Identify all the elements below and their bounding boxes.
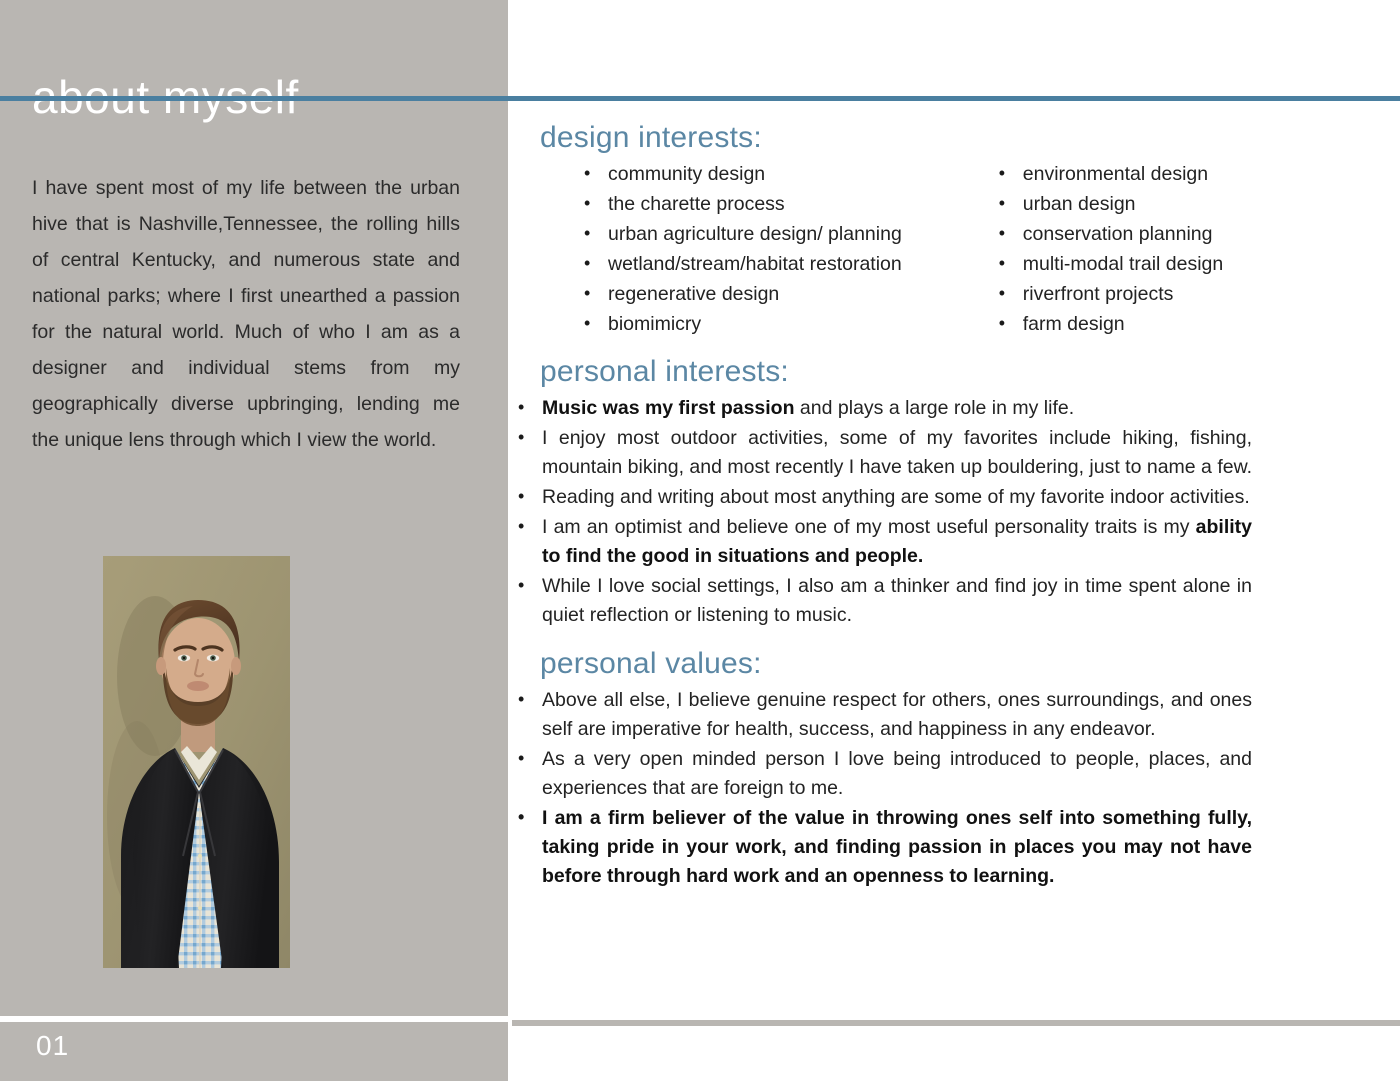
list-item: I am a firm believer of the value in thr… (512, 804, 1252, 891)
list-item: conservation planning (993, 220, 1368, 249)
list-item: While I love social settings, I also am … (512, 572, 1252, 630)
list-item: Reading and writing about most anything … (512, 483, 1252, 512)
list-item: urban agriculture design/ planning (578, 220, 993, 249)
list-item: environmental design (993, 160, 1368, 189)
design-interests-list-left: community designthe charette processurba… (578, 160, 993, 339)
list-item: regenerative design (578, 280, 993, 309)
list-item: urban design (993, 190, 1368, 219)
list-item: the charette process (578, 190, 993, 219)
design-interests-column-left: community designthe charette processurba… (578, 160, 993, 340)
design-interests-columns: community designthe charette processurba… (578, 160, 1368, 340)
list-item: wetland/stream/habitat restoration (578, 250, 993, 279)
list-item: farm design (993, 310, 1368, 339)
portrait-illustration (103, 556, 290, 968)
personal-interests-list: Music was my first passion and plays a l… (512, 394, 1252, 630)
list-item: As a very open minded person I love bein… (512, 745, 1252, 803)
list-item: biomimicry (578, 310, 993, 339)
list-item: Above all else, I believe genuine respec… (512, 686, 1252, 744)
footer-horizontal-rule (512, 1020, 1400, 1026)
list-item: riverfront projects (993, 280, 1368, 309)
section-heading-personal-interests: personal interests: (540, 354, 1368, 390)
section-heading-personal-values: personal values: (540, 646, 1368, 682)
section-heading-design-interests: design interests: (540, 120, 1368, 156)
page-number: 01 (36, 1030, 69, 1062)
design-interests-list-right: environmental designurban designconserva… (993, 160, 1368, 339)
title-divider-rule (0, 96, 1400, 101)
emphasis-text: ability to find the good in situations a… (542, 516, 1252, 567)
personal-values-list: Above all else, I believe genuine respec… (512, 686, 1252, 891)
list-item: I am an optimist and believe one of my m… (512, 513, 1252, 571)
portrait-photo (103, 556, 290, 968)
design-interests-column-right: environmental designurban designconserva… (993, 160, 1368, 340)
intro-paragraph: I have spent most of my life between the… (32, 170, 460, 458)
emphasis-text: Music was my first passion (542, 397, 795, 419)
list-item: I enjoy most outdoor activities, some of… (512, 424, 1252, 482)
list-item: Music was my first passion and plays a l… (512, 394, 1252, 423)
main-content-column: design interests: community designthe ch… (512, 110, 1368, 892)
list-item: community design (578, 160, 993, 189)
list-item: multi-modal trail design (993, 250, 1368, 279)
footer-gray-block (0, 1022, 508, 1081)
